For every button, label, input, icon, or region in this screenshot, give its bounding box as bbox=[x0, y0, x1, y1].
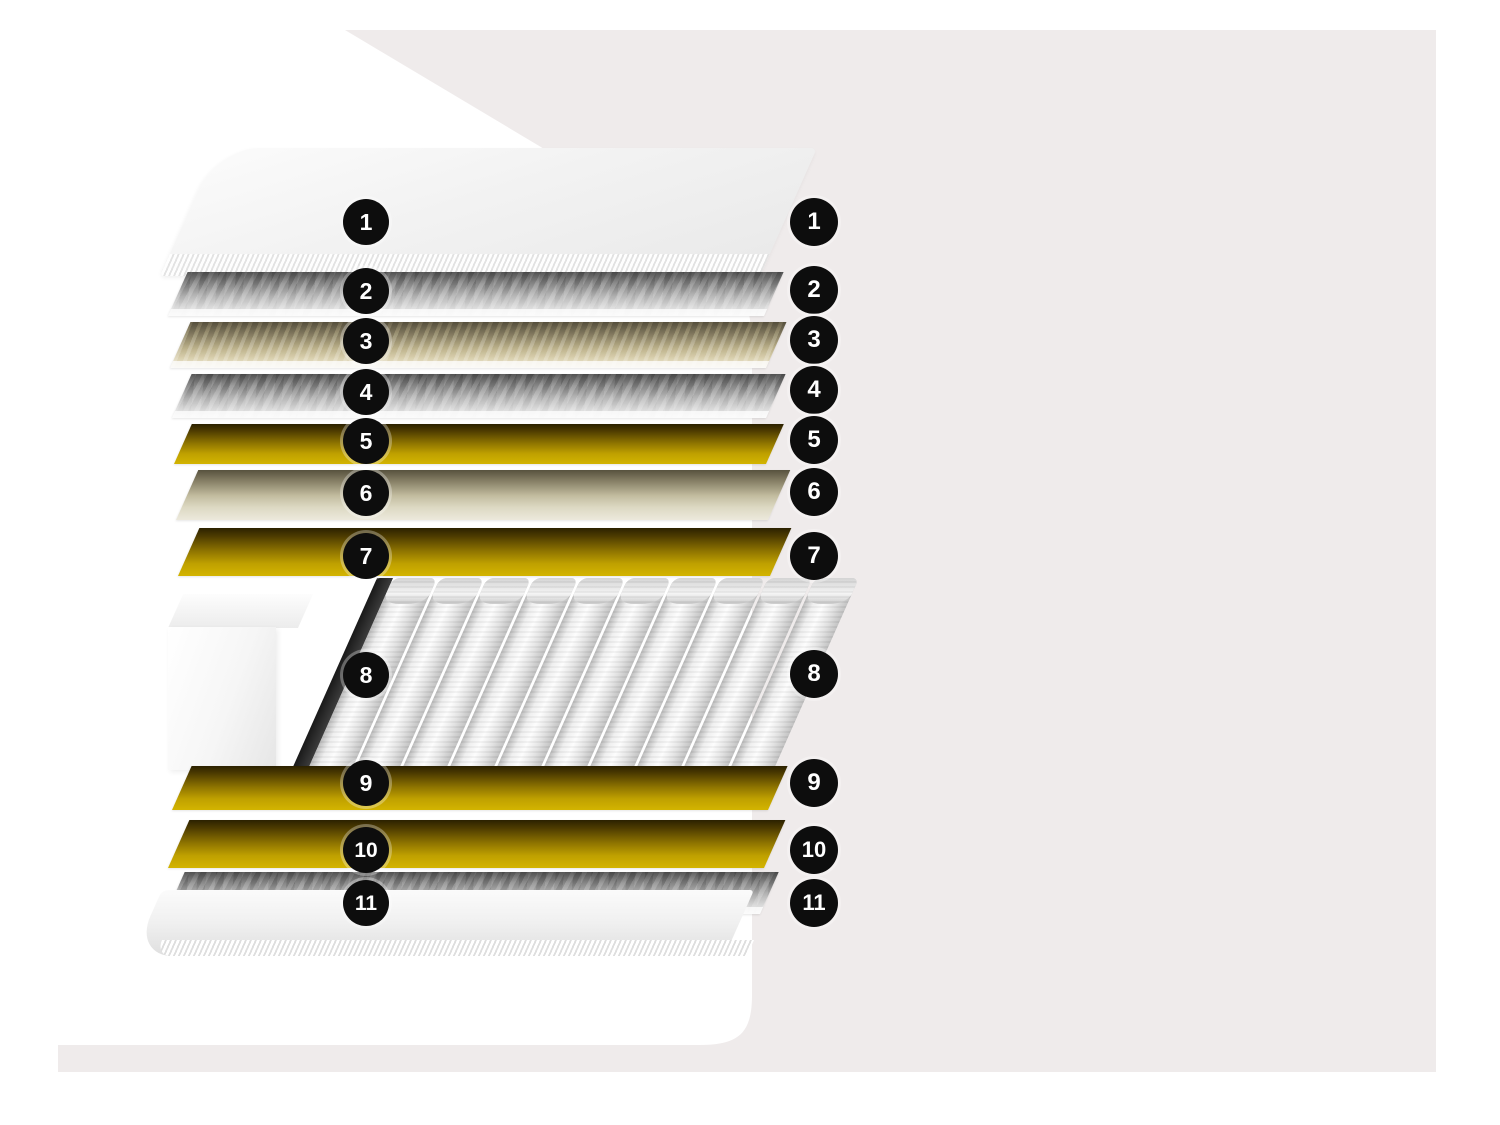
diagram-badge-5: 5 bbox=[343, 418, 389, 464]
layer-2-cotton-felt bbox=[168, 272, 784, 316]
legend-badge-1: 1 bbox=[790, 198, 838, 246]
diagram-badge-9: 9 bbox=[343, 760, 389, 806]
diagram-badge-1: 1 bbox=[343, 199, 389, 245]
layer-4-cotton-felt bbox=[172, 374, 786, 418]
legend-badge-11: 11 bbox=[790, 879, 838, 927]
legend-badge-5: 5 bbox=[790, 416, 838, 464]
legend-badge-6: 6 bbox=[790, 468, 838, 516]
diagram-badge-11: 11 bbox=[343, 880, 389, 926]
legend-badge-8: 8 bbox=[790, 650, 838, 698]
legend-badge-9: 9 bbox=[790, 759, 838, 807]
diagram-badge-4: 4 bbox=[343, 369, 389, 415]
layer-1-quilted-cover bbox=[160, 148, 760, 276]
foam-edge-support-block bbox=[168, 594, 298, 770]
layer-legend-list: 1 Revestimento de colchão elástico Oeko-… bbox=[790, 0, 1490, 1125]
mattress-cutaway-illustration: 1 2 3 4 5 6 7 8 9 10 11 bbox=[0, 0, 800, 1010]
legend-badge-3: 3 bbox=[790, 316, 838, 364]
layer-5-comfort-foam bbox=[174, 424, 784, 464]
legend-badge-2: 2 bbox=[790, 266, 838, 314]
diagram-badge-8: 8 bbox=[343, 652, 389, 698]
bottom-cover bbox=[162, 890, 754, 956]
diagram-badge-7: 7 bbox=[343, 533, 389, 579]
legend-badge-7: 7 bbox=[790, 532, 838, 580]
diagram-badge-3: 3 bbox=[343, 318, 389, 364]
layer-6-memory-foam bbox=[176, 470, 790, 520]
layer-10-comfort-foam bbox=[168, 820, 785, 868]
layer-7-comfort-foam bbox=[178, 528, 791, 576]
layer-3-wool-fibre bbox=[170, 322, 786, 368]
legend-badge-10: 10 bbox=[790, 826, 838, 874]
diagram-badge-10: 10 bbox=[343, 827, 389, 873]
legend-badge-4: 4 bbox=[790, 366, 838, 414]
diagram-badge-6: 6 bbox=[343, 470, 389, 516]
diagram-badge-2: 2 bbox=[343, 268, 389, 314]
layer-9-comfort-foam bbox=[172, 766, 788, 810]
